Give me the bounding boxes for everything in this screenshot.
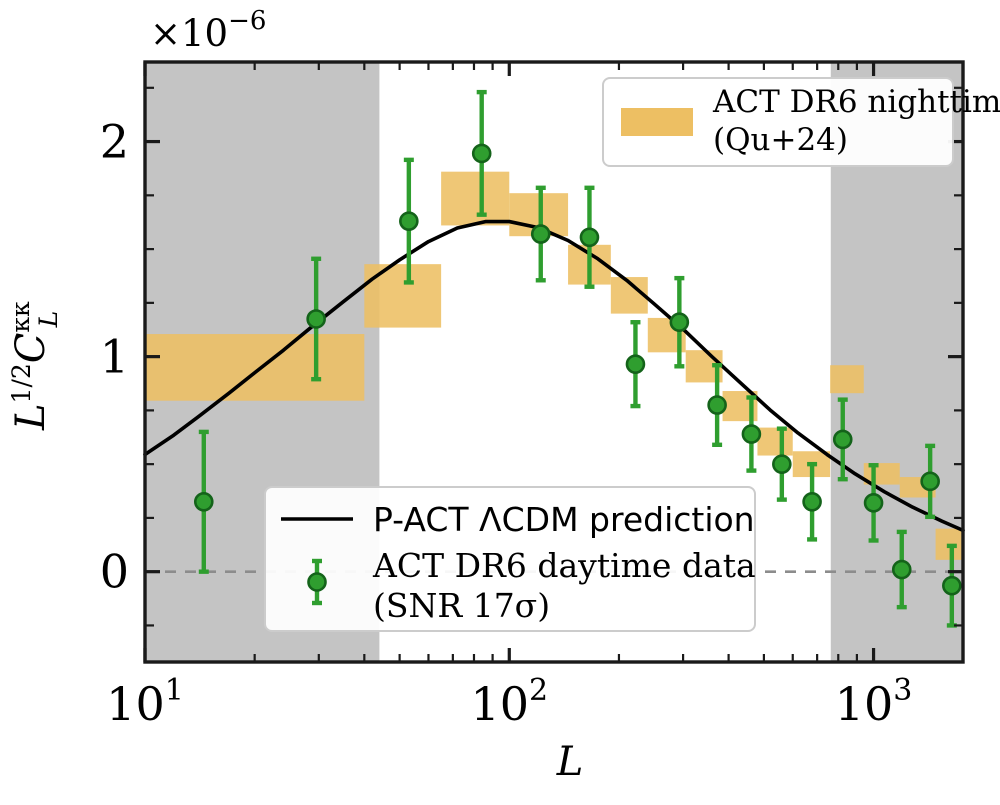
lensing-power-spectrum-chart: 101102103012 ACT DR6 nighttime(Qu+24)P-A… (0, 0, 1000, 805)
data-marker (865, 494, 882, 511)
legend-label-prediction: P-ACT ΛCDM prediction (373, 500, 755, 539)
nighttime-band-9 (757, 428, 792, 456)
figure-container: 101102103012 ACT DR6 nighttime(Qu+24)P-A… (0, 0, 1000, 805)
data-marker (743, 426, 760, 443)
nighttime-band-2 (441, 172, 509, 226)
data-marker (400, 213, 417, 230)
x-axis-title: L (556, 739, 584, 785)
data-marker (893, 561, 910, 578)
data-marker (581, 229, 598, 246)
nighttime-band-0 (145, 334, 364, 401)
data-marker (473, 145, 490, 162)
data-marker (709, 397, 726, 414)
nighttime-band-1 (364, 264, 441, 327)
y-axis-title: L1/2CκκL (6, 301, 63, 431)
data-marker (834, 431, 851, 448)
data-marker (671, 314, 688, 331)
y-axis-offset-exponent: ×10−6 (150, 6, 266, 55)
data-marker (804, 493, 821, 510)
x-tick-label-10: 101 (106, 673, 184, 731)
x-tick-label-1000: 103 (835, 673, 913, 731)
data-marker (532, 226, 549, 243)
data-marker (308, 310, 325, 327)
data-marker (922, 473, 939, 490)
legend-label-nighttime-line2: (Qu+24) (713, 122, 848, 158)
data-marker (195, 493, 212, 510)
data-marker (773, 456, 790, 473)
legend-marker-daytime (309, 574, 326, 591)
nighttime-band-11 (830, 365, 864, 393)
y-tick-label-1: 1 (100, 330, 129, 384)
legend-nighttime: ACT DR6 nighttime(Qu+24) (603, 78, 1000, 166)
legend-label-nighttime-line1: ACT DR6 nighttime (712, 84, 1000, 120)
legend-swatch-nighttime (621, 108, 693, 136)
legend-label-daytime-line1: ACT DR6 daytime data (372, 546, 756, 585)
y-tick-label-0: 0 (100, 545, 129, 599)
svg-text:L1/2CκκL: L1/2CκκL (6, 301, 63, 431)
y-tick-label-2: 2 (100, 115, 129, 169)
data-marker (943, 577, 960, 594)
data-marker (627, 356, 644, 373)
x-tick-label-100: 102 (470, 673, 548, 731)
legend-main: P-ACT ΛCDM predictionACT DR6 daytime dat… (265, 487, 756, 631)
legend-label-daytime-line2: (SNR 17σ) (373, 586, 550, 625)
